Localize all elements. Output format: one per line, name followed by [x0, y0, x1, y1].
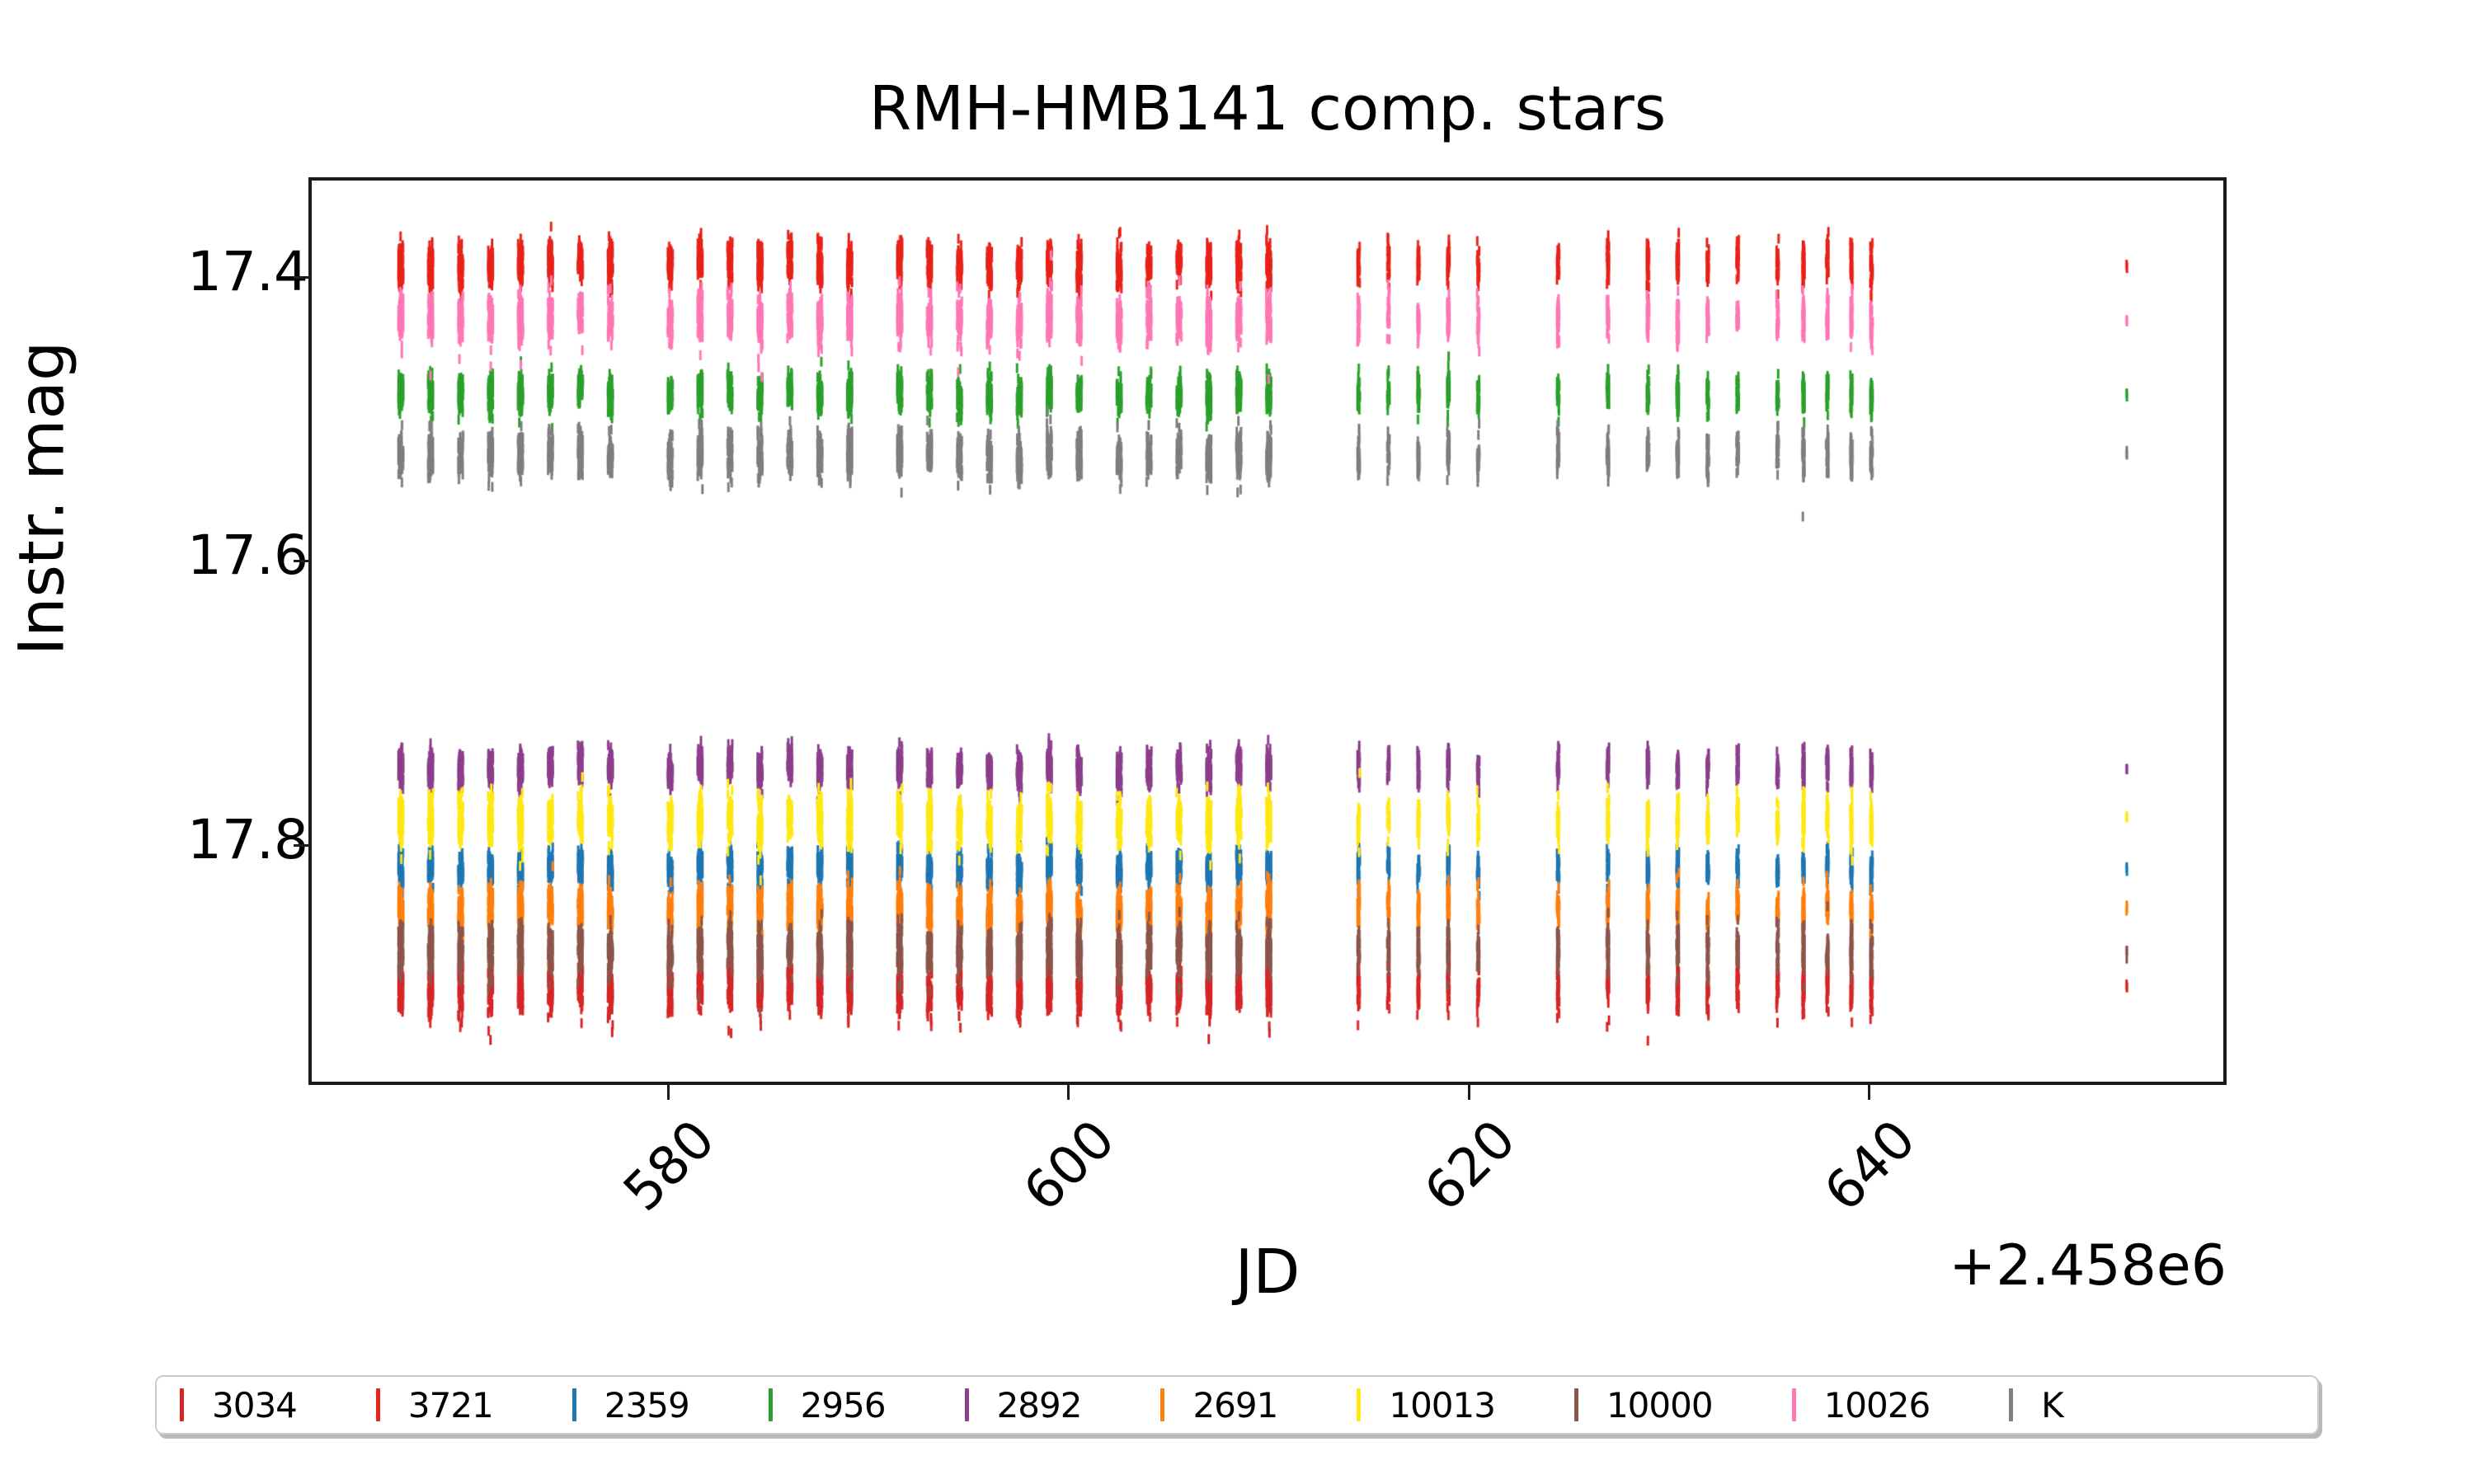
legend-item-10013[interactable]: 10013 [1357, 1385, 1574, 1425]
legend-marker-icon [180, 1388, 184, 1421]
x-tick-mark [1868, 1085, 1870, 1100]
legend-label: 2892 [997, 1385, 1082, 1425]
legend-item-k[interactable]: K [2009, 1385, 2142, 1425]
legend-item-2359[interactable]: 2359 [572, 1385, 769, 1425]
legend-label: K [2041, 1385, 2063, 1425]
legend-item-3721[interactable]: 3721 [376, 1385, 572, 1425]
legend-item-2956[interactable]: 2956 [769, 1385, 965, 1425]
legend-item-2691[interactable]: 2691 [1160, 1385, 1357, 1425]
legend-item-10026[interactable]: 10026 [1792, 1385, 2010, 1425]
legend-marker-icon [572, 1388, 576, 1421]
x-tick-mark [1468, 1085, 1470, 1100]
legend-marker-icon [965, 1388, 969, 1421]
legend-label: 2691 [1192, 1385, 1277, 1425]
legend-item-3034[interactable]: 3034 [180, 1385, 376, 1425]
legend-label: 10000 [1606, 1385, 1713, 1425]
legend-marker-icon [1160, 1388, 1164, 1421]
legend-label: 10013 [1389, 1385, 1495, 1425]
legend-item-2892[interactable]: 2892 [965, 1385, 1161, 1425]
legend-label: 10026 [1824, 1385, 1931, 1425]
legend: 303437212359295628922691100131000010026K [155, 1375, 2319, 1435]
y-axis-label: Instr. mag [5, 284, 78, 713]
x-tick-mark [1067, 1085, 1070, 1100]
x-axis-offset-text: +2.458e6 [0, 1233, 2227, 1298]
legend-marker-icon [1574, 1388, 1578, 1421]
legend-item-10000[interactable]: 10000 [1574, 1385, 1792, 1425]
legend-label: 2956 [801, 1385, 886, 1425]
legend-label: 3034 [212, 1385, 297, 1425]
y-tick-label: 17.8 [0, 808, 336, 871]
figure-canvas: RMH-HMB141 comp. stars Instr. mag 17.417… [0, 0, 2474, 1484]
legend-marker-icon [1792, 1388, 1796, 1421]
y-tick-mark [294, 844, 308, 847]
legend-label: 2359 [604, 1385, 689, 1425]
legend-marker-icon [376, 1388, 380, 1421]
legend-marker-icon [769, 1388, 773, 1421]
y-tick-label: 17.6 [0, 524, 336, 587]
scatter-plot-canvas [312, 181, 2223, 1082]
y-tick-label: 17.4 [0, 240, 336, 303]
y-tick-mark [294, 276, 308, 279]
legend-label: 3721 [408, 1385, 493, 1425]
legend-marker-icon [2009, 1388, 2013, 1421]
x-tick-mark [667, 1085, 670, 1100]
page-title: RMH-HMB141 comp. stars [308, 78, 2227, 139]
y-tick-mark [294, 560, 308, 562]
legend-marker-icon [1357, 1388, 1361, 1421]
plot-area [308, 177, 2227, 1085]
